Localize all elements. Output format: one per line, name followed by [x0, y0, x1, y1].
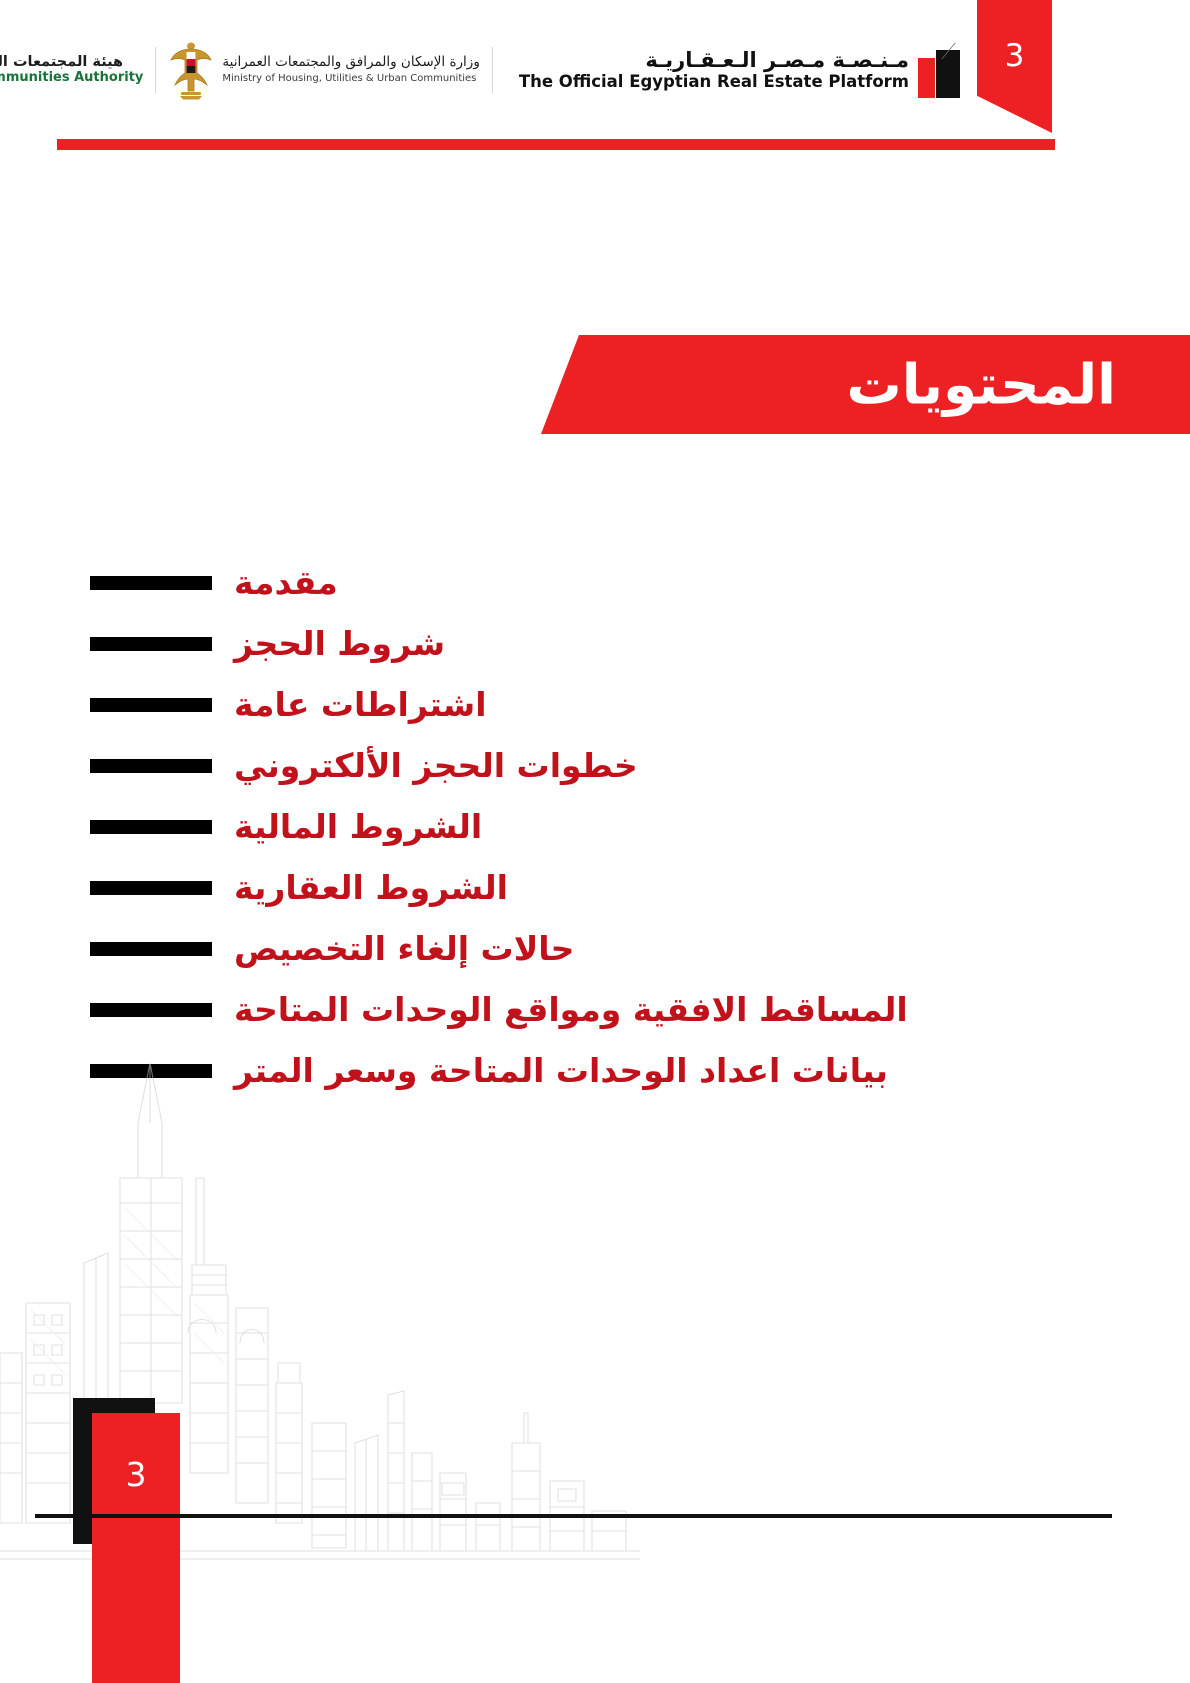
toc-item[interactable]: بيانات اعداد الوحدات المتاحة وسعر المتر [0, 1040, 1190, 1101]
logo-egyptian-real-estate-platform: مـنـصـة مـصـر الـعـقـاريـة The Official … [505, 42, 970, 98]
platform-name-english: The Official Egyptian Real Estate Platfo… [519, 73, 909, 90]
toc-item-dash-icon [90, 637, 212, 651]
toc-item-dash-icon [90, 942, 212, 956]
ministry-logo-text: وزارة الإسكان والمرافق والمجتمعات العمرا… [222, 55, 479, 84]
toc-item-label: حالات إلغاء التخصيص [212, 932, 1190, 965]
ministry-name-english: Ministry of Housing, Utilities & Urban C… [222, 73, 476, 85]
toc-item[interactable]: مقدمة [0, 552, 1190, 613]
authority-name-english: New Urban Communities Authority [0, 71, 143, 86]
platform-logo-text: مـنـصـة مـصـر الـعـقـاريـة The Official … [519, 49, 909, 91]
logo-new-urban-communities-authority: هيئة المجتمعات العمرانية الجديدة New Urb… [0, 40, 143, 100]
logo-divider [492, 47, 493, 93]
header-logo-group: مـنـصـة مـصـر الـعـقـاريـة The Official … [50, 34, 970, 106]
logo-divider [155, 47, 156, 93]
toc-item[interactable]: الشروط العقارية [0, 857, 1190, 918]
footer-page-tab [92, 1413, 180, 1683]
document-page: مـنـصـة مـصـر الـعـقـاريـة The Official … [0, 0, 1190, 1683]
toc-item-dash-icon [90, 576, 212, 590]
toc-item-dash-icon [90, 1003, 212, 1017]
footer-page-number: 3 [92, 1455, 180, 1494]
toc-item-dash-icon [90, 759, 212, 773]
toc-item-label: مقدمة [212, 566, 1190, 599]
toc-item[interactable]: شروط الحجز [0, 613, 1190, 674]
footer-rule [35, 1514, 1112, 1518]
logo-ministry-of-housing: وزارة الإسكان والمرافق والمجتمعات العمرا… [168, 39, 479, 101]
toc-item[interactable]: حالات إلغاء التخصيص [0, 918, 1190, 979]
toc-item-dash-icon [90, 881, 212, 895]
toc-item[interactable]: اشتراطات عامة [0, 674, 1190, 735]
toc-item-label: الشروط المالية [212, 810, 1190, 843]
toc-item[interactable]: الشروط المالية [0, 796, 1190, 857]
toc-item-dash-icon [90, 820, 212, 834]
table-of-contents: مقدمة شروط الحجز اشتراطات عامة خطوات الح… [0, 552, 1190, 1101]
toc-item-label: الشروط العقارية [212, 871, 1190, 904]
header-red-rule [57, 139, 1055, 150]
authority-name-arabic: هيئة المجتمعات العمرانية الجديدة [0, 54, 123, 70]
toc-item-label: خطوات الحجز الألكتروني [212, 749, 1190, 782]
contents-title-banner: المحتويات [541, 335, 1190, 434]
platform-name-arabic: مـنـصـة مـصـر الـعـقـاريـة [519, 49, 909, 71]
header-page-tab: 3 [977, 0, 1052, 133]
toc-item-dash-icon [90, 1064, 212, 1078]
toc-item[interactable]: المساقط الافقية ومواقع الوحدات المتاحة [0, 979, 1190, 1040]
page-title: المحتويات [541, 357, 1190, 412]
building-logo-icon [918, 42, 970, 98]
egypt-eagle-emblem-icon [168, 39, 214, 101]
toc-item-label: اشتراطات عامة [212, 688, 1190, 721]
toc-item-label: المساقط الافقية ومواقع الوحدات المتاحة [212, 993, 1190, 1026]
authority-logo-text: هيئة المجتمعات العمرانية الجديدة New Urb… [0, 54, 143, 86]
header-page-number: 3 [977, 38, 1052, 74]
toc-item-label: شروط الحجز [212, 627, 1190, 660]
toc-item-dash-icon [90, 698, 212, 712]
page-header: مـنـصـة مـصـر الـعـقـاريـة The Official … [0, 0, 1190, 160]
toc-item[interactable]: خطوات الحجز الألكتروني [0, 735, 1190, 796]
ministry-name-arabic: وزارة الإسكان والمرافق والمجتمعات العمرا… [222, 55, 479, 71]
toc-item-label: بيانات اعداد الوحدات المتاحة وسعر المتر [212, 1054, 1190, 1087]
